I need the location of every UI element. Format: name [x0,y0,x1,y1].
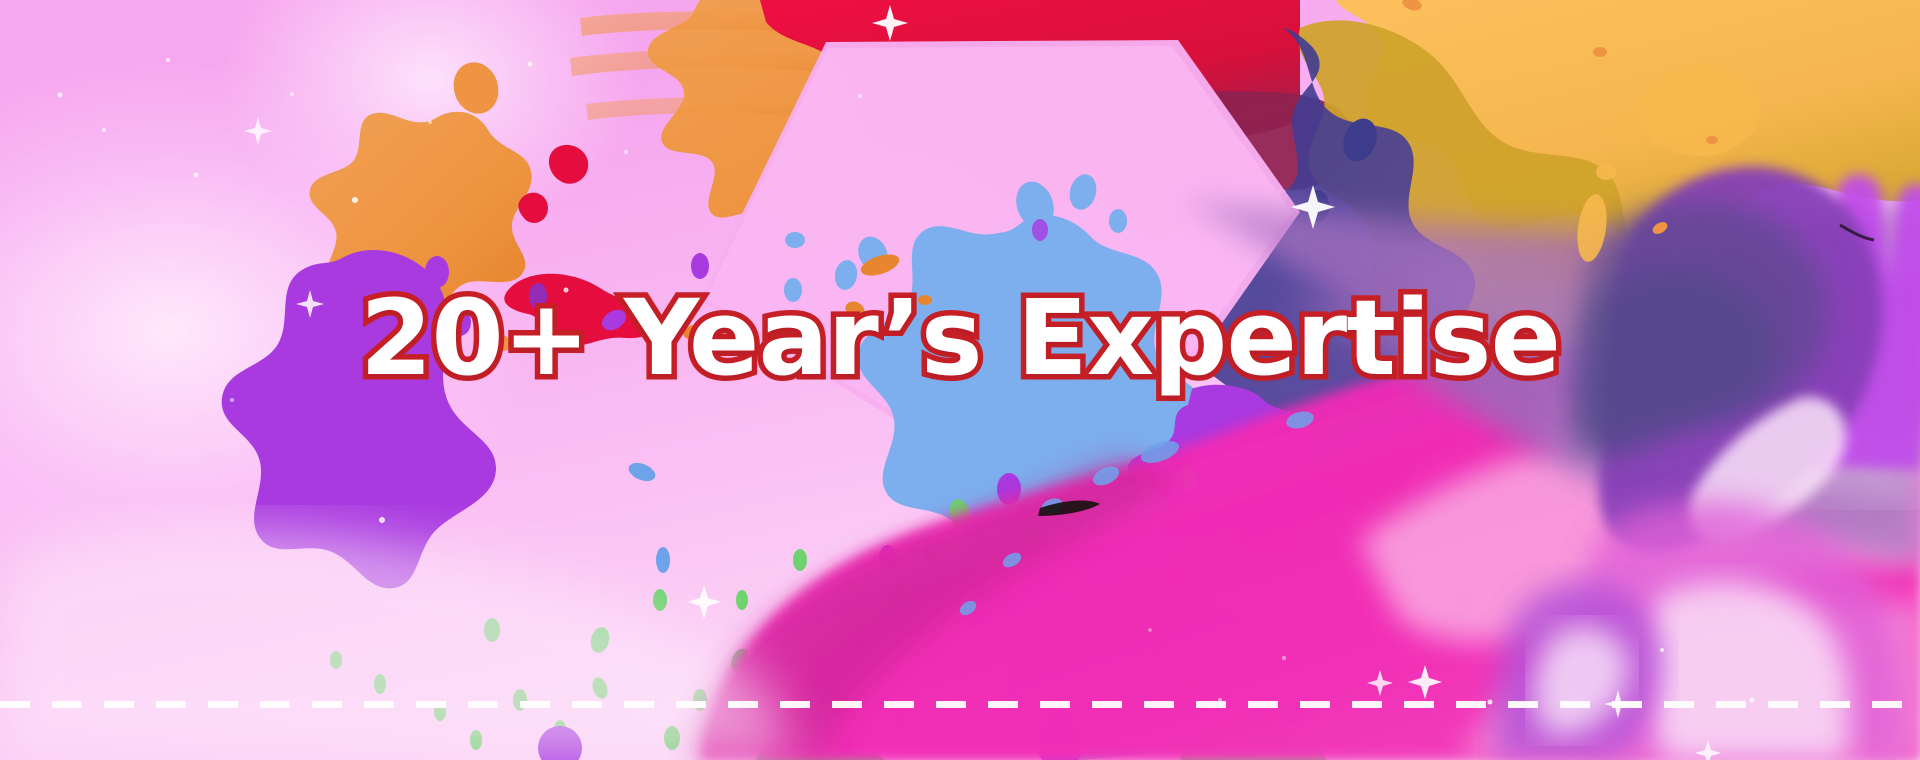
dashed-divider [0,701,1920,708]
sparkle-overlay [0,0,1920,760]
dot-sparkles [58,58,1755,705]
promo-banner: 20+ Year’s Expertise [0,0,1920,760]
star-sparkles [244,5,1721,760]
